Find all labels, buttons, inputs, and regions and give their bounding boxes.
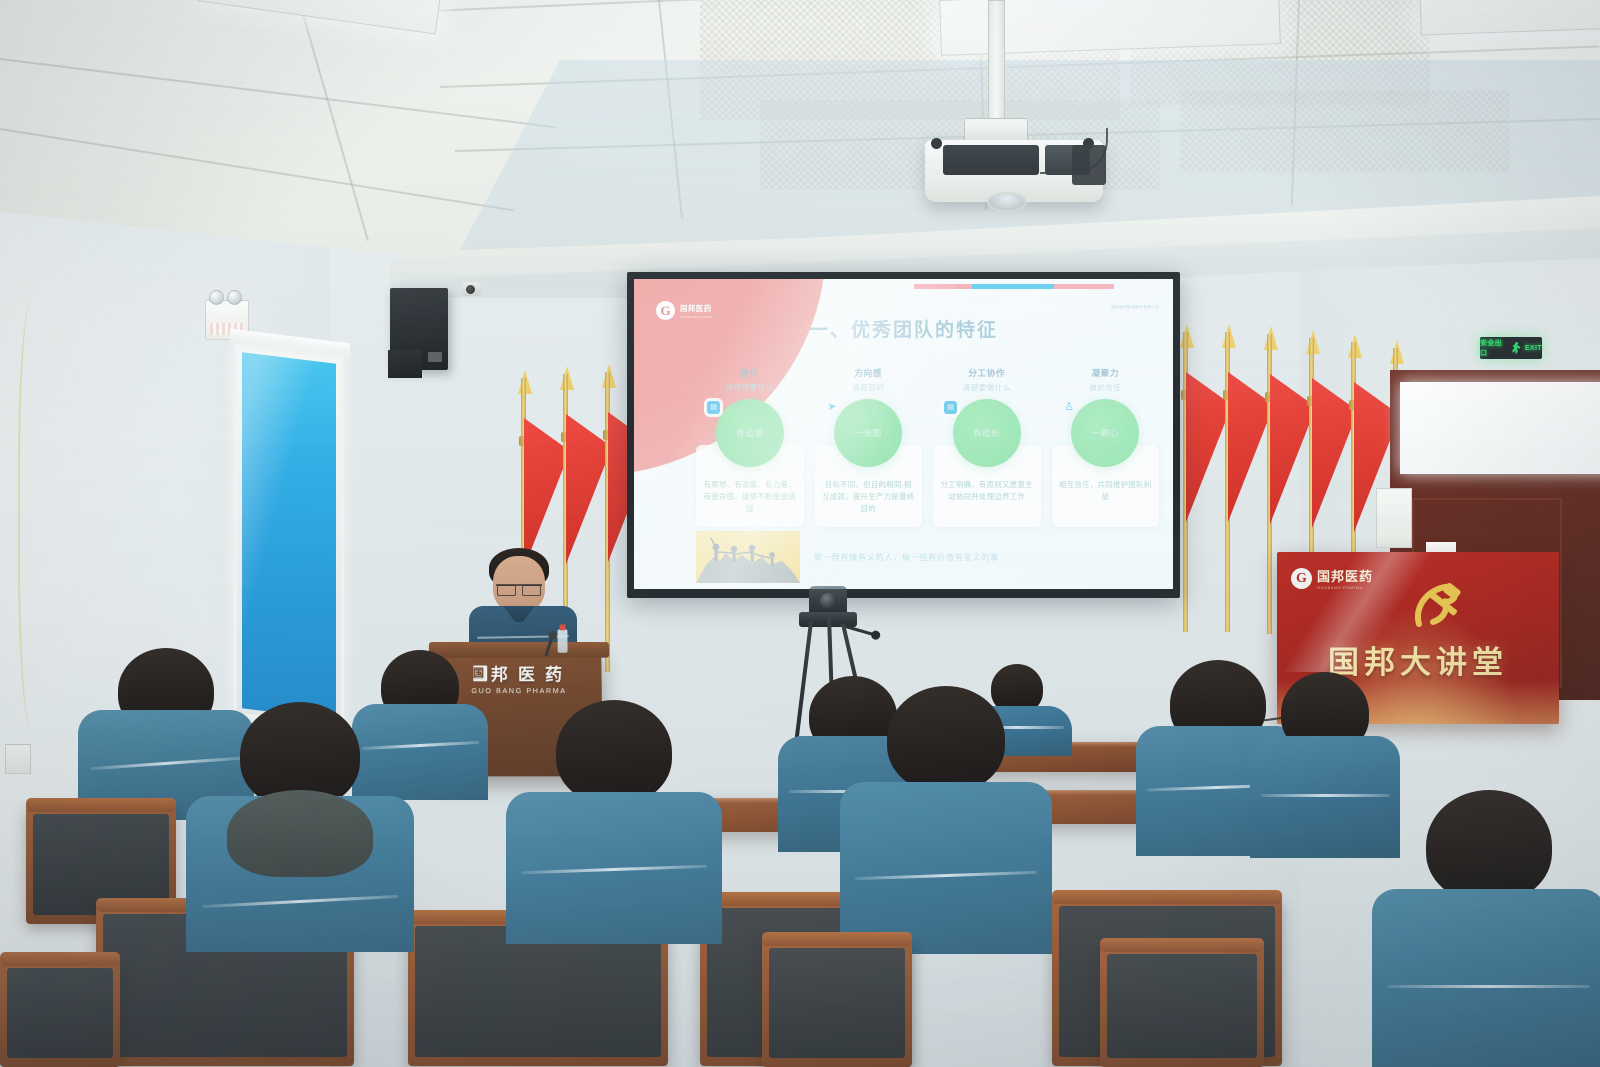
lectern-name-cn: 邦 医 药 [491, 661, 565, 686]
attendee-uniform [506, 792, 722, 944]
circle-label: 一张图 [855, 427, 882, 439]
attendee-uniform [186, 796, 414, 952]
slide-column: 凝聚力 彼此信任 一颗心 ♙ 相互信任，共同维护团队利益 [1052, 367, 1160, 527]
attendee-head [1426, 790, 1552, 902]
circle-label: 一颗心 [1092, 427, 1119, 439]
projector-adapter-box [1072, 145, 1106, 185]
slide-columns: 信仰 清楚想要什么 有追求 ▤ 有思想、有态度、有力量、有使命感、能够不断接受挑… [696, 367, 1159, 527]
column-circle: 一张图 [834, 399, 902, 467]
meeting-room-scene: 安全出口 EXIT G 国邦医药 GUOBANG PHARMA [0, 0, 1600, 1067]
hoodie [227, 790, 373, 877]
chair[interactable] [1100, 946, 1264, 1067]
column-heading: 分工协作 [968, 367, 1005, 379]
column-heading: 信仰 [741, 367, 759, 379]
slide-top-accent-bar [914, 284, 1114, 289]
attendee-head [887, 686, 1005, 792]
exit-sign-label-cn: 安全出口 [1480, 338, 1509, 358]
circle-label: 有追求 [736, 427, 763, 439]
slide-footer-caption: 聚一群有情有义的人，做一些有价值有意义的事 [814, 552, 999, 563]
slide-meta-text: 国邦医药集团股份有限公司 [1111, 305, 1159, 310]
slide-column: 方向感 清楚目的 一张图 ➤ 目标不同，但目的相同,相互成就，提升生产力是最终目… [815, 367, 923, 527]
column-circle: 有组织 [953, 399, 1021, 467]
column-subheading: 清楚目的 [852, 382, 884, 393]
chair[interactable] [0, 960, 120, 1067]
slide-title: 一、优秀团队的特征 [634, 315, 1173, 342]
ptz-camera-icon [809, 586, 847, 614]
running-person-icon [1511, 342, 1523, 355]
paper-plane-icon: ➤ [826, 401, 839, 414]
column-circle: 一颗心 [1071, 399, 1139, 467]
briefcase-icon: ▤ [707, 401, 720, 414]
projection-screen: G 国邦医药 GUOBANG PHARMA 国邦医药集团股份有限公司 一、优秀团… [627, 272, 1180, 598]
column-heading: 凝聚力 [1091, 367, 1119, 379]
projector-mount-pole [988, 0, 1005, 128]
teamwork-photo [696, 531, 800, 583]
electrical-box [1376, 488, 1412, 548]
glasses-icon [496, 584, 542, 594]
column-subheading: 清楚想要什么 [726, 382, 774, 393]
briefcase-icon: ▤ [944, 401, 957, 414]
presentation-slide: G 国邦医药 GUOBANG PHARMA 国邦医药集团股份有限公司 一、优秀团… [634, 279, 1173, 589]
attendee [1372, 790, 1600, 1067]
slide-footer: 聚一群有情有义的人，做一些有价值有意义的事 [696, 531, 1159, 583]
emergency-exit-sign: 安全出口 EXIT [1480, 337, 1542, 359]
door-transom-window [1400, 382, 1600, 474]
attendee-head [556, 700, 672, 804]
attendee-uniform [840, 782, 1052, 954]
water-bottle [558, 629, 568, 652]
chair[interactable] [762, 940, 912, 1067]
slide-column: 信仰 清楚想要什么 有追求 ▤ 有思想、有态度、有力量、有使命感、能够不断接受挑… [696, 367, 804, 527]
logo-name-cn: 国邦医药 [680, 303, 713, 314]
attendee [186, 702, 414, 952]
slide-column: 分工协作 清楚要做什么 有组织 ▤ 分工明确，有原则又愿意主动协同并处理边界工作 [933, 367, 1041, 527]
column-subheading: 清楚要做什么 [963, 382, 1011, 393]
projector-lens [987, 192, 1027, 212]
column-heading: 方向感 [854, 367, 882, 379]
attendee-uniform [1372, 889, 1600, 1067]
teamwork-silhouette-icon [696, 531, 800, 583]
attendee [840, 686, 1052, 954]
column-subheading: 彼此信任 [1089, 382, 1121, 393]
circle-label: 有组织 [973, 427, 1000, 439]
attendee [506, 700, 722, 944]
handshake-icon: ♙ [1063, 401, 1076, 414]
column-circle: 有追求 [716, 399, 784, 467]
exit-sign-label-en: EXIT [1525, 345, 1542, 352]
